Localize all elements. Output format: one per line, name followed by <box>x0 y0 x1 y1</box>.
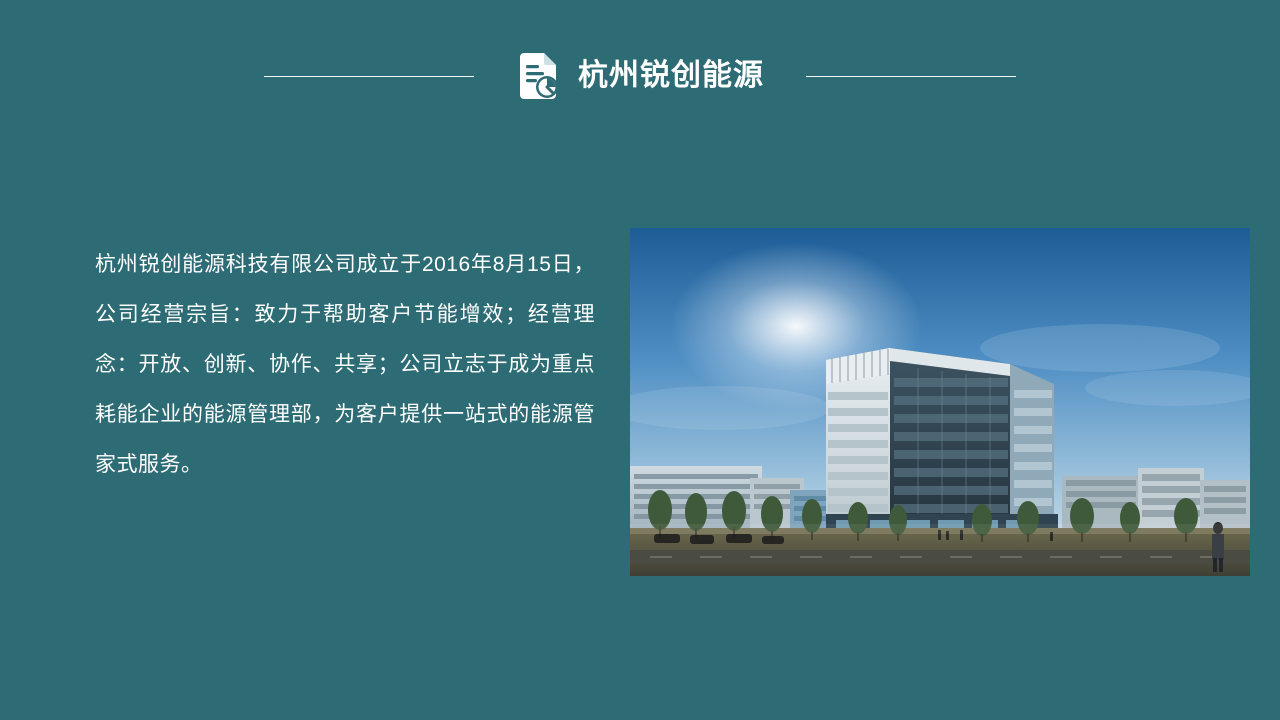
header-rule-left <box>264 76 474 77</box>
body-paragraph: 杭州锐创能源科技有限公司成立于2016年8月15日，公司经营宗旨：致力于帮助客户… <box>95 240 595 490</box>
document-icon <box>516 51 562 101</box>
header-rule-right <box>806 76 1016 77</box>
office-building-photo <box>630 228 1250 576</box>
header-title-group: 杭州锐创能源 <box>516 51 764 101</box>
slide-root: 杭州锐创能源 杭州锐创能源科技有限公司成立于2016年8月15日，公司经营宗旨：… <box>0 0 1280 720</box>
slide-header: 杭州锐创能源 <box>0 48 1280 104</box>
page-title: 杭州锐创能源 <box>578 61 764 91</box>
